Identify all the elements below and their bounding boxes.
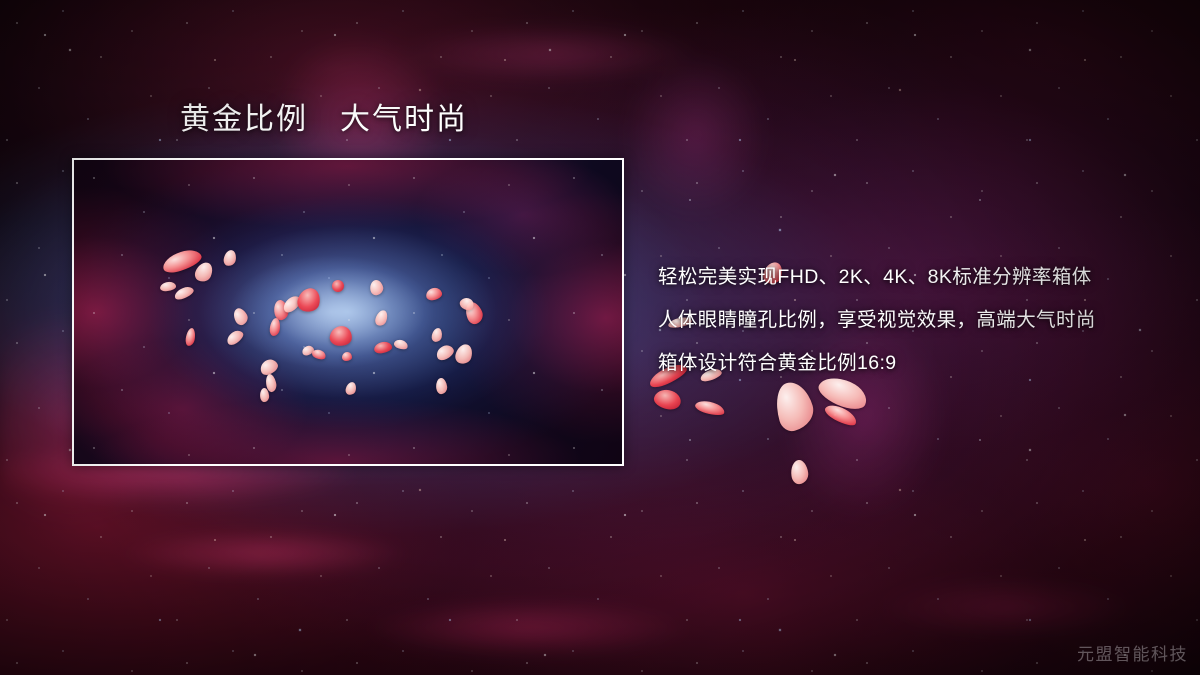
description-line-1: 轻松完美实现FHD、2K、4K、8K标准分辨率箱体 — [658, 256, 1178, 299]
petal — [342, 352, 352, 361]
description-line-2: 人体眼睛瞳孔比例，享受视觉效果，高端大气时尚 — [658, 299, 1178, 342]
brand-watermark: 元盟智能科技 — [1077, 640, 1188, 665]
description-block: 轻松完美实现FHD、2K、4K、8K标准分辨率箱体 人体眼睛瞳孔比例，享受视觉效… — [658, 256, 1178, 385]
inset-starfield — [74, 160, 622, 464]
page-title: 黄金比例 大气时尚 — [180, 101, 468, 139]
description-line-3: 箱体设计符合黄金比例16:9 — [658, 342, 1178, 385]
presentation-slide: 黄金比例 大气时尚 轻松完美实现FHD、2K、4K、8K标准分辨率箱体 人体眼睛… — [0, 0, 1200, 675]
petal — [332, 280, 344, 292]
nebula-photo-frame — [72, 158, 624, 466]
